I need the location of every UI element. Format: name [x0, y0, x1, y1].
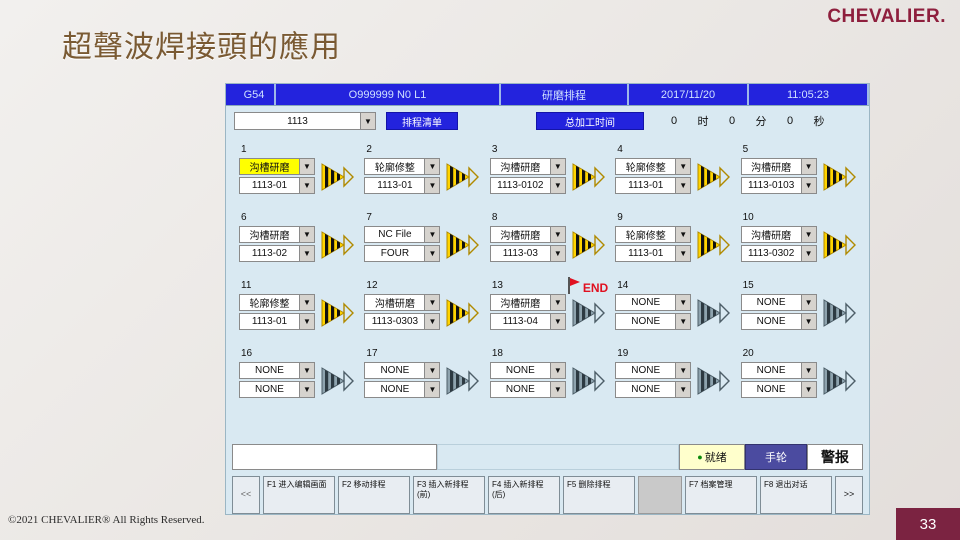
process-cell-5: 5沟槽研磨▼1113-0103▼: [736, 144, 861, 212]
chevron-down-icon[interactable]: ▼: [299, 178, 314, 193]
flow-arrow-icon-11: [320, 295, 354, 331]
process-fields: NONE▼NONE▼: [741, 362, 817, 400]
file-value: 1113-01: [365, 180, 424, 191]
function-key-f5[interactable]: F5 删除排程: [563, 476, 635, 514]
process-cell-4: 4轮廓修整▼1113-01▼: [610, 144, 735, 212]
operation-value: NONE: [491, 365, 550, 376]
file-select-2[interactable]: 1113-01▼: [364, 177, 440, 194]
operation-select-4[interactable]: 轮廓修整▼: [615, 158, 691, 175]
chevalier-logo: CHEVALIER.: [827, 6, 946, 28]
process-index-label: 7: [359, 212, 484, 226]
file-value: FOUR: [365, 248, 424, 259]
process-cell-body: NONE▼NONE▼: [485, 362, 610, 400]
date-display: 2017/11/20: [629, 84, 749, 105]
chevron-down-icon[interactable]: ▼: [424, 295, 439, 310]
process-cell-body: 沟槽研磨▼1113-03▼: [485, 226, 610, 264]
chevron-down-icon[interactable]: ▼: [424, 227, 439, 242]
chevron-down-icon[interactable]: ▼: [299, 363, 314, 378]
operation-value: NONE: [365, 365, 424, 376]
status-message-area: [437, 444, 679, 470]
ready-led-icon: ●: [697, 452, 702, 462]
seconds-value: 0: [776, 115, 804, 127]
seconds-unit: 秒: [806, 113, 832, 129]
chevron-down-icon[interactable]: ▼: [801, 159, 816, 174]
chevron-down-icon[interactable]: ▼: [550, 246, 565, 261]
process-cell-19: 19NONE▼NONE▼: [610, 348, 735, 416]
process-cell-body: 沟槽研磨▼1113-0303▼: [359, 294, 484, 332]
process-row: 6沟槽研磨▼1113-02▼7NC File▼FOUR▼8沟槽研磨▼1113-0…: [234, 212, 861, 280]
chevron-down-icon[interactable]: ▼: [675, 246, 690, 261]
process-cell-17: 17NONE▼NONE▼: [359, 348, 484, 416]
operation-select-18[interactable]: NONE▼: [490, 362, 566, 379]
process-row: 11轮廓修整▼1113-01▼12沟槽研磨▼1113-0303▼13END沟槽研…: [234, 280, 861, 348]
flow-arrow-icon-4: [696, 159, 730, 195]
chevron-down-icon[interactable]: ▼: [675, 363, 690, 378]
ready-status-badge: ● 就绪: [679, 444, 745, 470]
end-marker-label: END: [583, 281, 608, 295]
operation-value: 轮廓修整: [240, 295, 299, 310]
process-cell-7: 7NC File▼FOUR▼: [359, 212, 484, 280]
operation-value: NONE: [742, 297, 801, 308]
flow-arrow-icon-19: [696, 363, 730, 399]
process-fields: NONE▼NONE▼: [615, 294, 691, 332]
file-value: 1113-01: [240, 180, 299, 191]
process-cell-15: 15NONE▼NONE▼: [736, 280, 861, 348]
function-key-bar: <<F1 进入编辑画面F2 移动排程F3 插入新排程(前)F4 插入新排程(后)…: [232, 476, 863, 514]
operation-value: 轮廓修整: [616, 227, 675, 242]
process-fields: 沟槽研磨▼1113-04▼: [490, 294, 566, 332]
hmi-status-bar: ● 就绪 手轮 警报: [232, 444, 863, 470]
operation-select-14[interactable]: NONE▼: [615, 294, 691, 311]
minutes-unit: 分: [748, 113, 774, 129]
file-value: NONE: [616, 316, 675, 327]
chevron-down-icon[interactable]: ▼: [675, 178, 690, 193]
file-value: 1113-0302: [742, 248, 801, 259]
process-fields: 沟槽研磨▼1113-0303▼: [364, 294, 440, 332]
file-select-9[interactable]: 1113-01▼: [615, 245, 691, 262]
chevron-down-icon[interactable]: ▼: [550, 382, 565, 397]
chevron-down-icon[interactable]: ▼: [424, 159, 439, 174]
flow-arrow-icon-7: [445, 227, 479, 263]
operation-value: NONE: [616, 297, 675, 308]
file-value: 1113-02: [240, 248, 299, 259]
total-time-readout: 0 时 0 分 0 秒: [660, 113, 832, 129]
chevron-down-icon[interactable]: ▼: [299, 382, 314, 397]
file-select-20[interactable]: NONE▼: [741, 381, 817, 398]
chevron-down-icon[interactable]: ▼: [675, 159, 690, 174]
process-fields: NONE▼NONE▼: [239, 362, 315, 400]
operation-value: NC File: [365, 229, 424, 240]
process-cell-1: 1沟槽研磨▼1113-01▼: [234, 144, 359, 212]
process-cell-body: 轮廓修整▼1113-01▼: [234, 294, 359, 332]
function-key-next[interactable]: >>: [835, 476, 863, 514]
flow-arrow-icon-6: [320, 227, 354, 263]
function-key-f3[interactable]: F3 插入新排程(前): [413, 476, 485, 514]
flow-arrow-icon-20: [822, 363, 856, 399]
process-cell-body: NONE▼NONE▼: [736, 294, 861, 332]
ready-label: 就绪: [705, 449, 727, 465]
operation-select-7[interactable]: NC File▼: [364, 226, 440, 243]
chevron-down-icon[interactable]: ▼: [801, 178, 816, 193]
process-fields: NC File▼FOUR▼: [364, 226, 440, 264]
process-fields: 沟槽研磨▼1113-0103▼: [741, 158, 817, 196]
operation-select-3[interactable]: 沟槽研磨▼: [490, 158, 566, 175]
process-index-label: 9: [610, 212, 735, 226]
chevron-down-icon[interactable]: ▼: [801, 295, 816, 310]
file-select-11[interactable]: 1113-01▼: [239, 313, 315, 330]
process-index-label: 5: [736, 144, 861, 158]
function-key-f7[interactable]: F7 档案管理: [685, 476, 757, 514]
process-cell-14: 14NONE▼NONE▼: [610, 280, 735, 348]
schedule-list-button[interactable]: 排程清单: [386, 112, 458, 130]
program-number-display: O999999 N0 L1: [276, 84, 501, 105]
process-cell-6: 6沟槽研磨▼1113-02▼: [234, 212, 359, 280]
process-index-label: 14: [610, 280, 735, 294]
process-cell-body: 沟槽研磨▼1113-01▼: [234, 158, 359, 196]
process-schedule-grid: 1沟槽研磨▼1113-01▼2轮廓修整▼1113-01▼3沟槽研磨▼1113-0…: [232, 138, 863, 438]
file-value: 1113-01: [616, 180, 675, 191]
operation-select-16[interactable]: NONE▼: [239, 362, 315, 379]
chevron-down-icon[interactable]: ▼: [801, 314, 816, 329]
chevron-down-icon[interactable]: ▼: [675, 382, 690, 397]
operation-select-19[interactable]: NONE▼: [615, 362, 691, 379]
process-cell-body: NC File▼FOUR▼: [359, 226, 484, 264]
process-cell-body: 沟槽研磨▼1113-0103▼: [736, 158, 861, 196]
process-fields: 沟槽研磨▼1113-02▼: [239, 226, 315, 264]
flow-arrow-icon-5: [822, 159, 856, 195]
file-select-6[interactable]: 1113-02▼: [239, 245, 315, 262]
process-cell-3: 3沟槽研磨▼1113-0102▼: [485, 144, 610, 212]
process-fields: 沟槽研磨▼1113-0302▼: [741, 226, 817, 264]
chevron-down-icon[interactable]: ▼: [360, 113, 375, 129]
process-index-label: 17: [359, 348, 484, 362]
chevron-down-icon[interactable]: ▼: [550, 159, 565, 174]
operation-value: 沟槽研磨: [240, 159, 299, 174]
function-key-f2[interactable]: F2 移动排程: [338, 476, 410, 514]
file-value: 1113-03: [491, 248, 550, 259]
flow-arrow-icon-8: [571, 227, 605, 263]
process-fields: 沟槽研磨▼1113-03▼: [490, 226, 566, 264]
chevron-down-icon[interactable]: ▼: [675, 227, 690, 242]
process-fields: NONE▼NONE▼: [490, 362, 566, 400]
file-select-8[interactable]: 1113-03▼: [490, 245, 566, 262]
process-index-label: 18: [485, 348, 610, 362]
process-cell-20: 20NONE▼NONE▼: [736, 348, 861, 416]
chevron-down-icon[interactable]: ▼: [801, 227, 816, 242]
operation-select-13[interactable]: 沟槽研磨▼: [490, 294, 566, 311]
operation-value: 轮廓修整: [616, 159, 675, 174]
chevron-down-icon[interactable]: ▼: [550, 314, 565, 329]
chevron-down-icon[interactable]: ▼: [299, 295, 314, 310]
process-cell-body: 轮廓修整▼1113-01▼: [359, 158, 484, 196]
flow-arrow-icon-1: [320, 159, 354, 195]
process-fields: 轮廓修整▼1113-01▼: [239, 294, 315, 332]
process-fields: NONE▼NONE▼: [364, 362, 440, 400]
copyright-notice: ©2021 CHEVALIER® All Rights Reserved.: [8, 514, 204, 526]
process-index-label: 2: [359, 144, 484, 158]
chevron-down-icon[interactable]: ▼: [550, 295, 565, 310]
operation-value: 轮廓修整: [365, 159, 424, 174]
function-key-f1[interactable]: F1 进入编辑画面: [263, 476, 335, 514]
file-select-1[interactable]: 1113-01▼: [239, 177, 315, 194]
chevron-down-icon[interactable]: ▼: [424, 363, 439, 378]
file-value: 1113-01: [616, 248, 675, 259]
flow-arrow-icon-13: [571, 295, 605, 331]
process-cell-10: 10沟槽研磨▼1113-0302▼: [736, 212, 861, 280]
page-number-badge: 33: [896, 508, 960, 540]
chevron-down-icon[interactable]: ▼: [299, 159, 314, 174]
operation-value: NONE: [616, 365, 675, 376]
file-value: NONE: [365, 384, 424, 395]
page-title: 超聲波焊接頭的應用: [62, 22, 341, 66]
hmi-toolbar: 1113 ▼ 排程清单 总加工时间 0 时 0 分 0 秒: [226, 106, 869, 136]
chevron-down-icon[interactable]: ▼: [675, 314, 690, 329]
function-key-blank: [638, 476, 682, 514]
file-select-13[interactable]: 1113-04▼: [490, 313, 566, 330]
chevron-down-icon[interactable]: ▼: [299, 314, 314, 329]
process-index-label: 20: [736, 348, 861, 362]
end-marker: END: [567, 277, 608, 299]
process-cell-body: 轮廓修整▼1113-01▼: [610, 226, 735, 264]
program-select-dropdown[interactable]: 1113 ▼: [234, 112, 376, 130]
process-cell-9: 9轮廓修整▼1113-01▼: [610, 212, 735, 280]
file-value: NONE: [616, 384, 675, 395]
function-key-prev[interactable]: <<: [232, 476, 260, 514]
flow-arrow-icon-14: [696, 295, 730, 331]
operation-select-20[interactable]: NONE▼: [741, 362, 817, 379]
hmi-top-status-bar: G54 O999999 N0 L1 研磨排程 2017/11/20 11:05:…: [226, 84, 869, 106]
process-cell-body: NONE▼NONE▼: [610, 362, 735, 400]
file-select-12[interactable]: 1113-0303▼: [364, 313, 440, 330]
flow-arrow-icon-3: [571, 159, 605, 195]
process-cell-13: 13END沟槽研磨▼1113-04▼: [485, 280, 610, 348]
flow-arrow-icon-18: [571, 363, 605, 399]
operation-value: NONE: [240, 365, 299, 376]
file-value: 1113-04: [491, 316, 550, 327]
chevron-down-icon[interactable]: ▼: [424, 246, 439, 261]
chevron-down-icon[interactable]: ▼: [550, 178, 565, 193]
total-machining-time-button[interactable]: 总加工时间: [536, 112, 644, 130]
chevron-down-icon[interactable]: ▼: [801, 246, 816, 261]
operation-value: 沟槽研磨: [240, 227, 299, 242]
operation-value: NONE: [742, 365, 801, 376]
operation-value: 沟槽研磨: [491, 227, 550, 242]
file-value: NONE: [240, 384, 299, 395]
file-select-17[interactable]: NONE▼: [364, 381, 440, 398]
process-fields: 轮廓修整▼1113-01▼: [364, 158, 440, 196]
process-index-label: 3: [485, 144, 610, 158]
file-select-15[interactable]: NONE▼: [741, 313, 817, 330]
operation-value: 沟槽研磨: [365, 295, 424, 310]
operation-value: 沟槽研磨: [742, 159, 801, 174]
process-cell-16: 16NONE▼NONE▼: [234, 348, 359, 416]
flow-arrow-icon-9: [696, 227, 730, 263]
flow-arrow-icon-12: [445, 295, 479, 331]
process-index-label: 1: [234, 144, 359, 158]
process-cell-body: 轮廓修整▼1113-01▼: [610, 158, 735, 196]
file-value: NONE: [742, 384, 801, 395]
program-select-value: 1113: [235, 116, 360, 127]
hours-value: 0: [660, 115, 688, 127]
process-fields: 沟槽研磨▼1113-01▼: [239, 158, 315, 196]
file-value: 1113-0303: [365, 316, 424, 327]
chevron-down-icon[interactable]: ▼: [550, 227, 565, 242]
flow-arrow-icon-2: [445, 159, 479, 195]
minutes-value: 0: [718, 115, 746, 127]
file-select-18[interactable]: NONE▼: [490, 381, 566, 398]
chevron-down-icon[interactable]: ▼: [299, 246, 314, 261]
process-cell-body: NONE▼NONE▼: [234, 362, 359, 400]
file-value: 1113-0103: [742, 180, 801, 191]
process-cell-body: NONE▼NONE▼: [359, 362, 484, 400]
file-value: NONE: [742, 316, 801, 327]
process-index-label: 10: [736, 212, 861, 226]
flow-arrow-icon-17: [445, 363, 479, 399]
file-select-7[interactable]: FOUR▼: [364, 245, 440, 262]
function-key-f4[interactable]: F4 插入新排程(后): [488, 476, 560, 514]
process-index-label: 11: [234, 280, 359, 294]
process-cell-12: 12沟槽研磨▼1113-0303▼: [359, 280, 484, 348]
red-flag-icon: [567, 277, 581, 299]
process-index-label: 19: [610, 348, 735, 362]
process-index-label: 4: [610, 144, 735, 158]
chevron-down-icon[interactable]: ▼: [801, 363, 816, 378]
hours-unit: 时: [690, 113, 716, 129]
process-cell-body: 沟槽研磨▼1113-04▼: [485, 294, 610, 332]
operation-value: 沟槽研磨: [742, 227, 801, 242]
process-cell-18: 18NONE▼NONE▼: [485, 348, 610, 416]
operation-select-2[interactable]: 轮廓修整▼: [364, 158, 440, 175]
mode-display: 研磨排程: [501, 84, 629, 105]
process-cell-body: 沟槽研磨▼1113-0102▼: [485, 158, 610, 196]
process-index-label: 15: [736, 280, 861, 294]
operation-value: 沟槽研磨: [491, 159, 550, 174]
brand-text: CHEVALIER: [827, 6, 940, 27]
process-fields: 轮廓修整▼1113-01▼: [615, 226, 691, 264]
file-value: NONE: [491, 384, 550, 395]
process-cell-body: NONE▼NONE▼: [736, 362, 861, 400]
operation-select-8[interactable]: 沟槽研磨▼: [490, 226, 566, 243]
flow-arrow-icon-15: [822, 295, 856, 331]
file-select-16[interactable]: NONE▼: [239, 381, 315, 398]
process-cell-2: 2轮廓修整▼1113-01▼: [359, 144, 484, 212]
alarm-button[interactable]: 警报: [807, 444, 863, 470]
process-fields: NONE▼NONE▼: [615, 362, 691, 400]
operation-select-15[interactable]: NONE▼: [741, 294, 817, 311]
operation-select-5[interactable]: 沟槽研磨▼: [741, 158, 817, 175]
process-cell-11: 11轮廓修整▼1113-01▼: [234, 280, 359, 348]
process-index-label: 16: [234, 348, 359, 362]
process-index-label: 8: [485, 212, 610, 226]
process-fields: NONE▼NONE▼: [741, 294, 817, 332]
cnc-hmi-panel: G54 O999999 N0 L1 研磨排程 2017/11/20 11:05:…: [225, 83, 870, 515]
message-input[interactable]: [232, 444, 437, 470]
chevron-down-icon[interactable]: ▼: [424, 382, 439, 397]
handwheel-button[interactable]: 手轮: [745, 444, 807, 470]
process-row: 1沟槽研磨▼1113-01▼2轮廓修整▼1113-01▼3沟槽研磨▼1113-0…: [234, 144, 861, 212]
operation-select-9[interactable]: 轮廓修整▼: [615, 226, 691, 243]
process-row: 16NONE▼NONE▼17NONE▼NONE▼18NONE▼NONE▼19NO…: [234, 348, 861, 416]
flow-arrow-icon-16: [320, 363, 354, 399]
file-select-4[interactable]: 1113-01▼: [615, 177, 691, 194]
process-cell-8: 8沟槽研磨▼1113-03▼: [485, 212, 610, 280]
file-value: 1113-01: [240, 316, 299, 327]
operation-select-11[interactable]: 轮廓修整▼: [239, 294, 315, 311]
file-select-10[interactable]: 1113-0302▼: [741, 245, 817, 262]
operation-select-6[interactable]: 沟槽研磨▼: [239, 226, 315, 243]
function-key-f8[interactable]: F8 退出对话: [760, 476, 832, 514]
file-value: 1113-0102: [491, 180, 550, 191]
process-cell-body: NONE▼NONE▼: [610, 294, 735, 332]
operation-select-10[interactable]: 沟槽研磨▼: [741, 226, 817, 243]
process-index-label: 12: [359, 280, 484, 294]
chevron-down-icon[interactable]: ▼: [299, 227, 314, 242]
operation-select-1[interactable]: 沟槽研磨▼: [239, 158, 315, 175]
operation-value: 沟槽研磨: [491, 295, 550, 310]
operation-select-12[interactable]: 沟槽研磨▼: [364, 294, 440, 311]
chevron-down-icon[interactable]: ▼: [801, 382, 816, 397]
chevron-down-icon[interactable]: ▼: [675, 295, 690, 310]
clock-display: 11:05:23: [749, 84, 869, 105]
process-fields: 沟槽研磨▼1113-0102▼: [490, 158, 566, 196]
coordinate-system-indicator: G54: [226, 84, 276, 105]
operation-select-17[interactable]: NONE▼: [364, 362, 440, 379]
file-select-19[interactable]: NONE▼: [615, 381, 691, 398]
process-index-label: 6: [234, 212, 359, 226]
file-select-14[interactable]: NONE▼: [615, 313, 691, 330]
file-select-3[interactable]: 1113-0102▼: [490, 177, 566, 194]
flow-arrow-icon-10: [822, 227, 856, 263]
process-cell-body: 沟槽研磨▼1113-0302▼: [736, 226, 861, 264]
process-cell-body: 沟槽研磨▼1113-02▼: [234, 226, 359, 264]
chevron-down-icon[interactable]: ▼: [424, 314, 439, 329]
brand-dot: .: [940, 6, 946, 27]
file-select-5[interactable]: 1113-0103▼: [741, 177, 817, 194]
chevron-down-icon[interactable]: ▼: [550, 363, 565, 378]
process-fields: 轮廓修整▼1113-01▼: [615, 158, 691, 196]
chevron-down-icon[interactable]: ▼: [424, 178, 439, 193]
